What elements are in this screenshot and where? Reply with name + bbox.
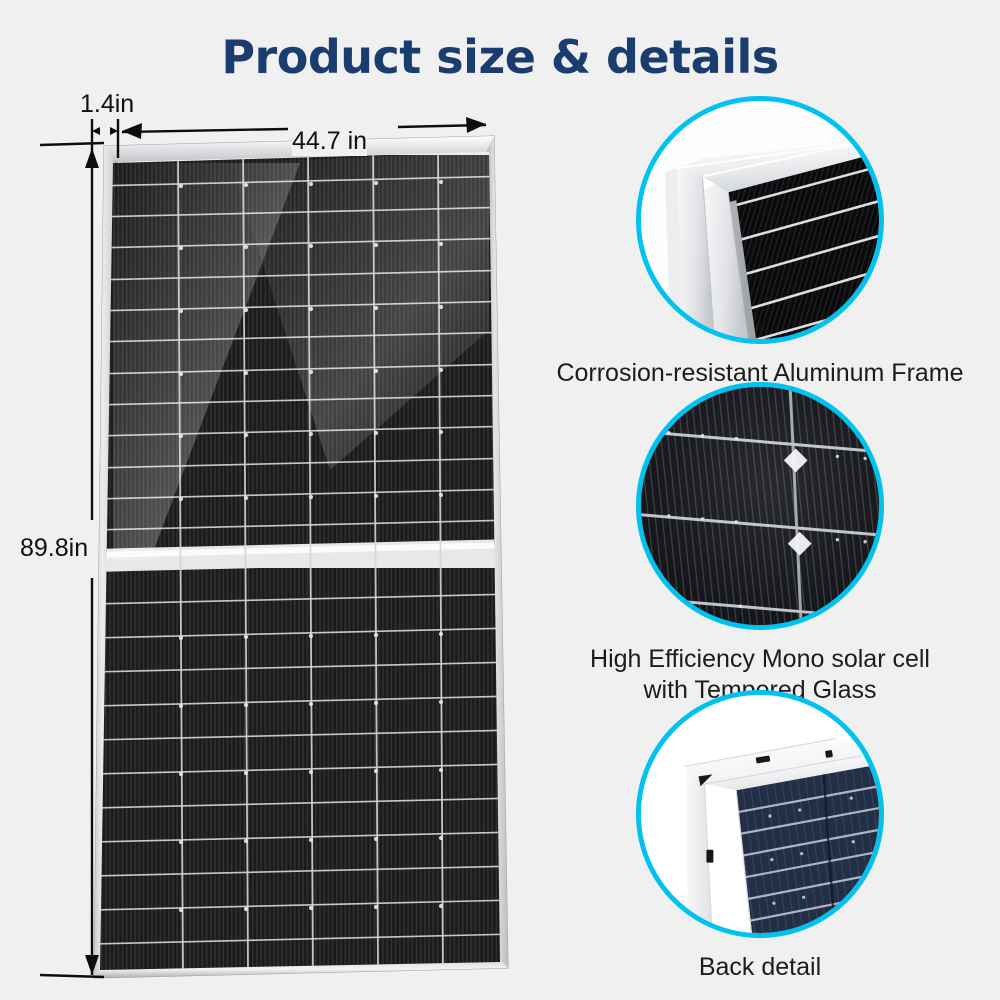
back-photo-art — [641, 695, 879, 933]
detail-item-back-detail: Back detail — [540, 690, 980, 983]
detail-caption: Back detail — [540, 952, 980, 983]
cell-photo-art — [641, 387, 879, 625]
dimension-label-width: 44.7 in — [292, 127, 367, 156]
frame-photo-art — [641, 101, 879, 339]
dimension-label-thickness: 1.4in — [80, 90, 134, 119]
detail-item-mono-solar-cell: High Efficiency Mono solar cell with Tem… — [540, 382, 980, 706]
infographic-canvas: Product size & details — [0, 0, 1000, 1000]
solar-panel-illustration — [0, 0, 540, 1000]
detail-caption-line1: High Efficiency Mono solar cell — [540, 644, 980, 675]
detail-item-aluminum-frame: Corrosion-resistant Aluminum Frame — [540, 96, 980, 389]
detail-photo-wrap — [636, 690, 884, 938]
aluminum-frame-corner-photo — [636, 96, 884, 344]
dimension-label-height: 89.8in — [20, 534, 88, 563]
panel-back-corner-photo — [636, 690, 884, 938]
detail-photo-wrap — [636, 96, 884, 344]
detail-photo-wrap — [636, 382, 884, 630]
mono-solar-cell-closeup-photo — [636, 382, 884, 630]
product-diagram: 1.4in 44.7 in 89.8in — [0, 0, 540, 1000]
detail-caption-line1: Back detail — [540, 952, 980, 983]
